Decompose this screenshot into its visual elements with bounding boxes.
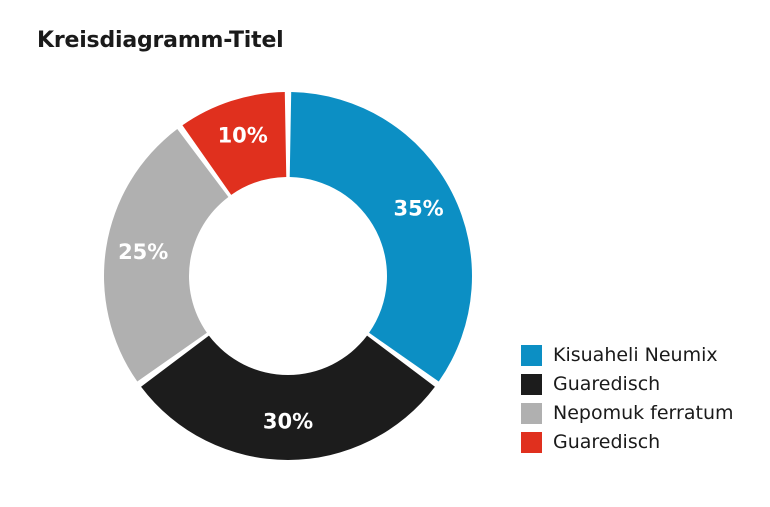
legend-item-1[interactable]: Guaredisch	[521, 370, 761, 399]
legend-item-0[interactable]: Kisuaheli Neumix	[521, 341, 761, 370]
legend-swatch-icon-0	[521, 345, 542, 366]
slice-data-label-1: 30%	[263, 410, 313, 434]
legend-label-1: Guaredisch	[553, 375, 660, 394]
legend-label-2: Nepomuk ferratum	[553, 404, 734, 423]
legend-label-3: Guaredisch	[553, 433, 660, 452]
slice-data-label-0: 35%	[393, 196, 443, 220]
chart-canvas: Kreisdiagramm-Titel 35%30%25%10% Kisuahe…	[0, 0, 770, 507]
legend-item-2[interactable]: Nepomuk ferratum	[521, 399, 761, 428]
legend-swatch-icon-1	[521, 374, 542, 395]
donut-slice-0[interactable]	[290, 92, 472, 382]
legend-swatch-icon-2	[521, 403, 542, 424]
donut-slices	[104, 92, 472, 460]
legend-item-3[interactable]: Guaredisch	[521, 428, 761, 457]
slice-data-label-2: 25%	[118, 240, 168, 264]
donut-slice-1[interactable]	[141, 336, 435, 460]
donut-chart: 35%30%25%10%	[0, 0, 520, 507]
donut-chart-svg: 35%30%25%10%	[0, 0, 520, 507]
legend-swatch-icon-3	[521, 432, 542, 453]
legend: Kisuaheli Neumix Guaredisch Nepomuk ferr…	[521, 341, 761, 457]
slice-data-label-3: 10%	[218, 124, 268, 148]
legend-label-0: Kisuaheli Neumix	[553, 346, 718, 365]
